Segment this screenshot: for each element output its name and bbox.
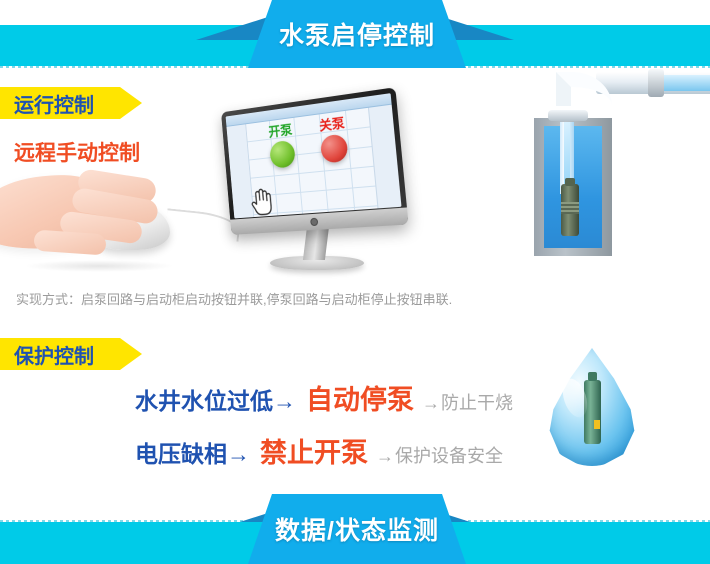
- implementation-note: 实现方式：启泵回路与启动柜启动按钮并联,停泵回路与启动柜停止按钮串联.: [16, 289, 452, 308]
- rule-arrow-icon: →: [227, 441, 250, 468]
- rule-result: 防止干烧: [441, 389, 513, 415]
- submersible-pump: [561, 184, 579, 236]
- protection-control-tag: 保护控制: [0, 338, 142, 370]
- finger-little: [33, 230, 106, 256]
- protection-rule-row: 电压缺相 → 禁止开泵 → 保护设备安全: [135, 431, 503, 470]
- rule-arrow-icon: →: [273, 388, 296, 415]
- top-banner: 水泵启停控制: [0, 0, 710, 70]
- hand-cursor-icon: [249, 186, 275, 217]
- water-droplet-illustration: [546, 348, 638, 466]
- stop-pump-button[interactable]: 关泵: [318, 116, 348, 163]
- pipe-coupler: [648, 69, 664, 97]
- remote-manual-control-subtitle: 远程手动控制: [14, 137, 140, 167]
- rule-result-arrow-icon: →: [376, 446, 394, 467]
- computer-monitor: 开泵 关泵: [208, 100, 408, 275]
- rule-condition: 电压缺相: [135, 435, 227, 469]
- run-control-tag: 运行控制: [0, 87, 142, 119]
- green-indicator-icon[interactable]: [269, 140, 296, 169]
- rule-action: 禁止开泵: [260, 431, 368, 470]
- mouse-shadow: [24, 260, 174, 272]
- infographic-page: 水泵启停控制 运行控制 远程手动控制: [0, 0, 710, 564]
- red-indicator-icon[interactable]: [320, 133, 349, 163]
- top-banner-title: 水泵启停控制: [279, 16, 435, 52]
- monitor-screen: 开泵 关泵: [226, 93, 402, 218]
- bottom-banner: 数据/状态监测: [0, 494, 710, 564]
- rule-condition: 水井水位过低: [135, 382, 273, 416]
- run-control-tag-label: 运行控制: [14, 89, 94, 118]
- scada-application: 开泵 关泵: [226, 93, 402, 218]
- start-pump-label: 开泵: [268, 123, 293, 139]
- rule-action: 自动停泵: [306, 378, 414, 417]
- start-pump-button[interactable]: 开泵: [268, 123, 296, 169]
- droplet-pump-icon: [584, 380, 601, 444]
- protection-control-tag-label: 保护控制: [14, 340, 94, 369]
- protection-rule-row: 水井水位过低 → 自动停泵 → 防止干烧: [135, 378, 513, 417]
- rule-result-arrow-icon: →: [422, 393, 440, 414]
- monitor-neck: [303, 226, 329, 260]
- hand-on-mouse-illustration: [0, 168, 190, 280]
- bottom-banner-plate: 数据/状态监测: [248, 494, 466, 564]
- rule-result: 保护设备安全: [395, 442, 503, 468]
- monitor-body: 开泵 关泵: [221, 87, 409, 235]
- bottom-banner-title: 数据/状态监测: [275, 511, 439, 547]
- well-head-flange: [548, 110, 588, 121]
- horizontal-pipe-water: [662, 75, 710, 91]
- top-banner-plate: 水泵启停控制: [248, 0, 466, 68]
- stop-pump-label: 关泵: [319, 116, 345, 132]
- well-pump-illustration: [500, 66, 710, 276]
